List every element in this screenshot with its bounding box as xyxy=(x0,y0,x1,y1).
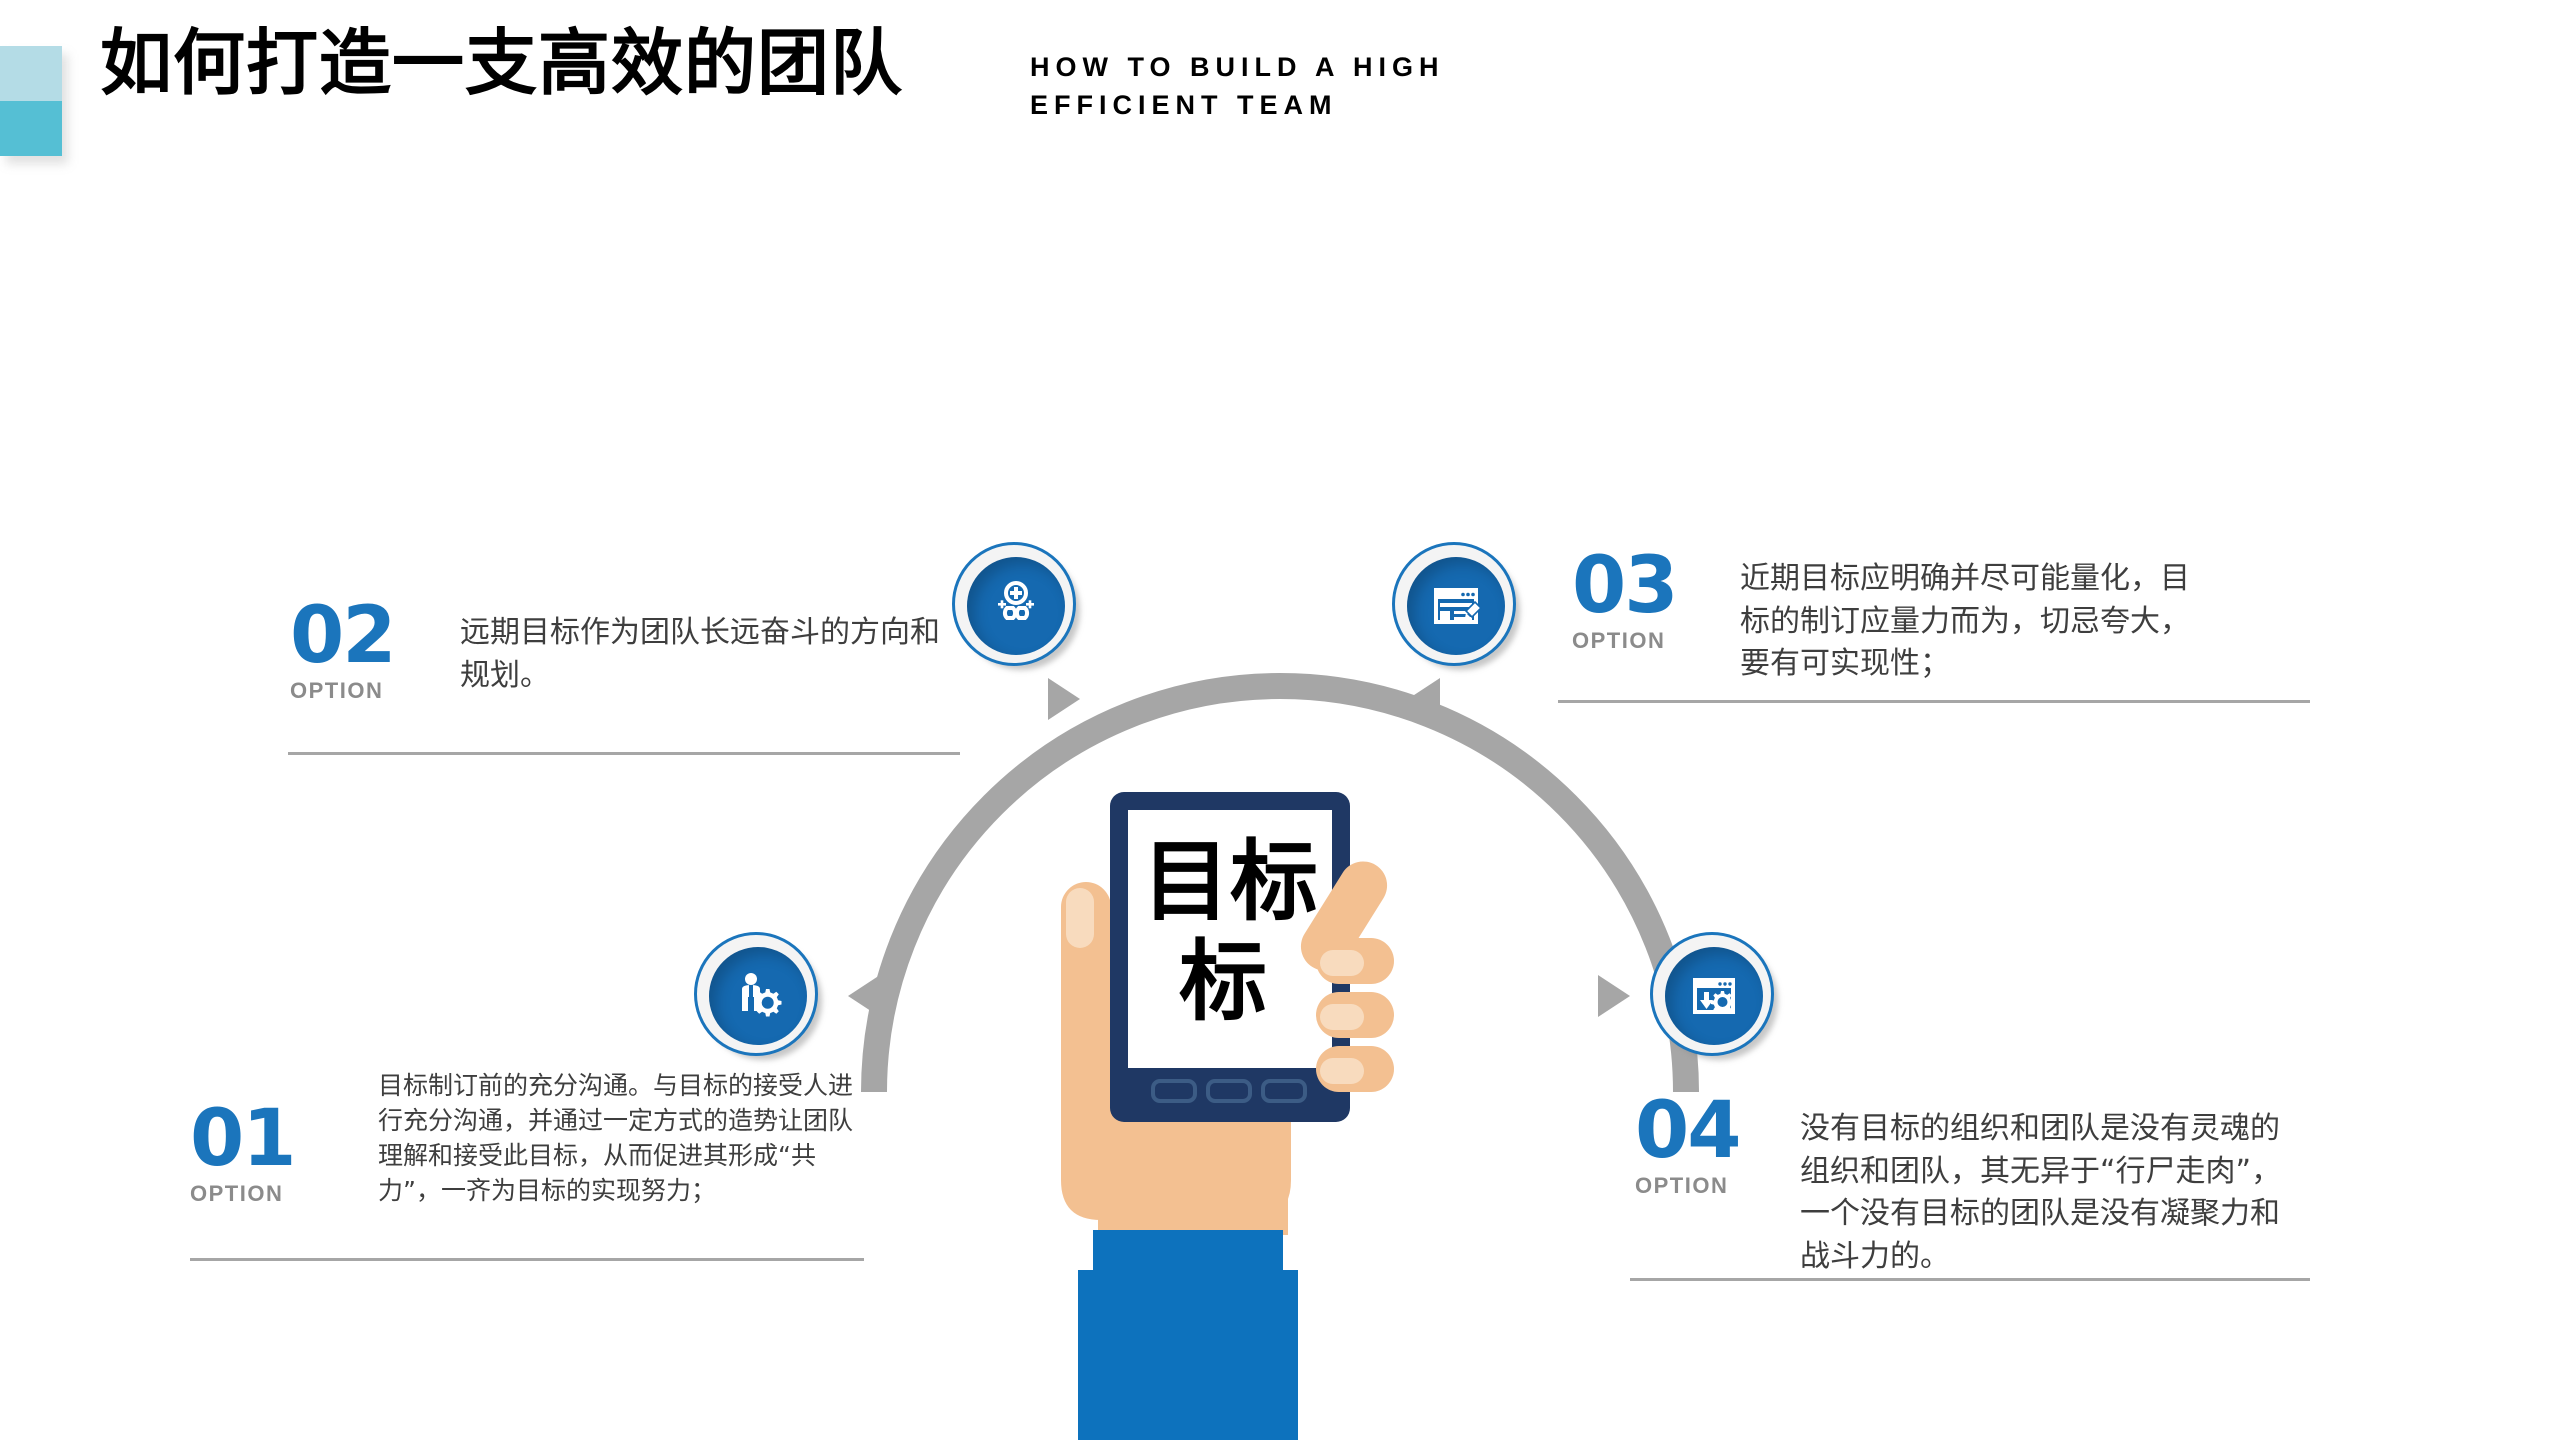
badge-disc xyxy=(1665,947,1763,1045)
option-number-04: 04 xyxy=(1635,1100,1740,1164)
option-text-02: 远期目标作为团队长远奋斗的方向和规划。 xyxy=(460,612,950,697)
header-accent-mark xyxy=(0,46,62,156)
badge-disc xyxy=(967,557,1065,655)
badge-disc xyxy=(1407,557,1505,655)
option-rule-01 xyxy=(190,1258,864,1261)
option-number-03: 03 xyxy=(1572,555,1677,619)
arrow-marker-option-04 xyxy=(1598,975,1630,1017)
page-subtitle-en: HOW TO BUILD A HIGH EFFICIENT TEAM xyxy=(1030,48,1444,125)
option-rule-03 xyxy=(1558,700,2310,703)
option-text-03: 近期目标应明确并尽可能量化，目标的制订应量力而为，切忌夸大，要有可实现性； xyxy=(1740,558,2210,686)
page-title: 如何打造一支高效的团队 xyxy=(100,28,903,100)
icon-badge-option-03[interactable] xyxy=(1392,542,1520,670)
option-rule-02 xyxy=(288,752,960,755)
option-block-01: 01 OPTION xyxy=(190,1108,295,1207)
option-block-02: 02 OPTION xyxy=(290,605,395,704)
option-number-01: 01 xyxy=(190,1108,295,1172)
icon-badge-option-04[interactable] xyxy=(1650,932,1778,1060)
phone-screen-text-line1: 目标 xyxy=(1142,830,1318,933)
icon-badge-option-02[interactable] xyxy=(952,542,1080,670)
header-accent-top xyxy=(0,46,62,101)
svg-text:标: 标 xyxy=(1179,930,1267,1033)
option-block-03: 03 OPTION xyxy=(1572,555,1677,654)
option-word-01: OPTION xyxy=(190,1181,295,1207)
document-edit-icon xyxy=(1427,577,1485,635)
person-gear-icon xyxy=(729,967,787,1025)
option-number-02: 02 xyxy=(290,605,395,669)
option-word-04: OPTION xyxy=(1635,1173,1740,1199)
slide-canvas: 如何打造一支高效的团队 HOW TO BUILD A HIGH EFFICIEN… xyxy=(0,0,2560,1440)
option-word-02: OPTION xyxy=(290,678,395,704)
option-rule-04 xyxy=(1630,1278,2310,1281)
arrow-marker-option-03 xyxy=(1408,678,1440,720)
download-settings-icon xyxy=(1685,967,1743,1025)
hand-holding-phone-illustration: 目标 标 xyxy=(1020,760,1540,1440)
header-accent-bottom xyxy=(0,101,62,156)
icon-badge-option-01[interactable] xyxy=(694,932,822,1060)
badge-disc xyxy=(709,947,807,1045)
option-word-03: OPTION xyxy=(1572,628,1677,654)
arrow-marker-option-02 xyxy=(1048,678,1080,720)
option-block-04: 04 OPTION xyxy=(1635,1100,1740,1199)
option-text-04: 没有目标的组织和团队是没有灵魂的组织和团队，其无异于“行尸走肉”，一个没有目标的… xyxy=(1800,1108,2300,1278)
add-user-link-icon xyxy=(987,577,1045,635)
arrow-marker-option-01 xyxy=(848,975,880,1017)
option-text-01: 目标制订前的充分沟通。与目标的接受人进行充分沟通，并通过一定方式的造势让团队理解… xyxy=(378,1068,868,1208)
